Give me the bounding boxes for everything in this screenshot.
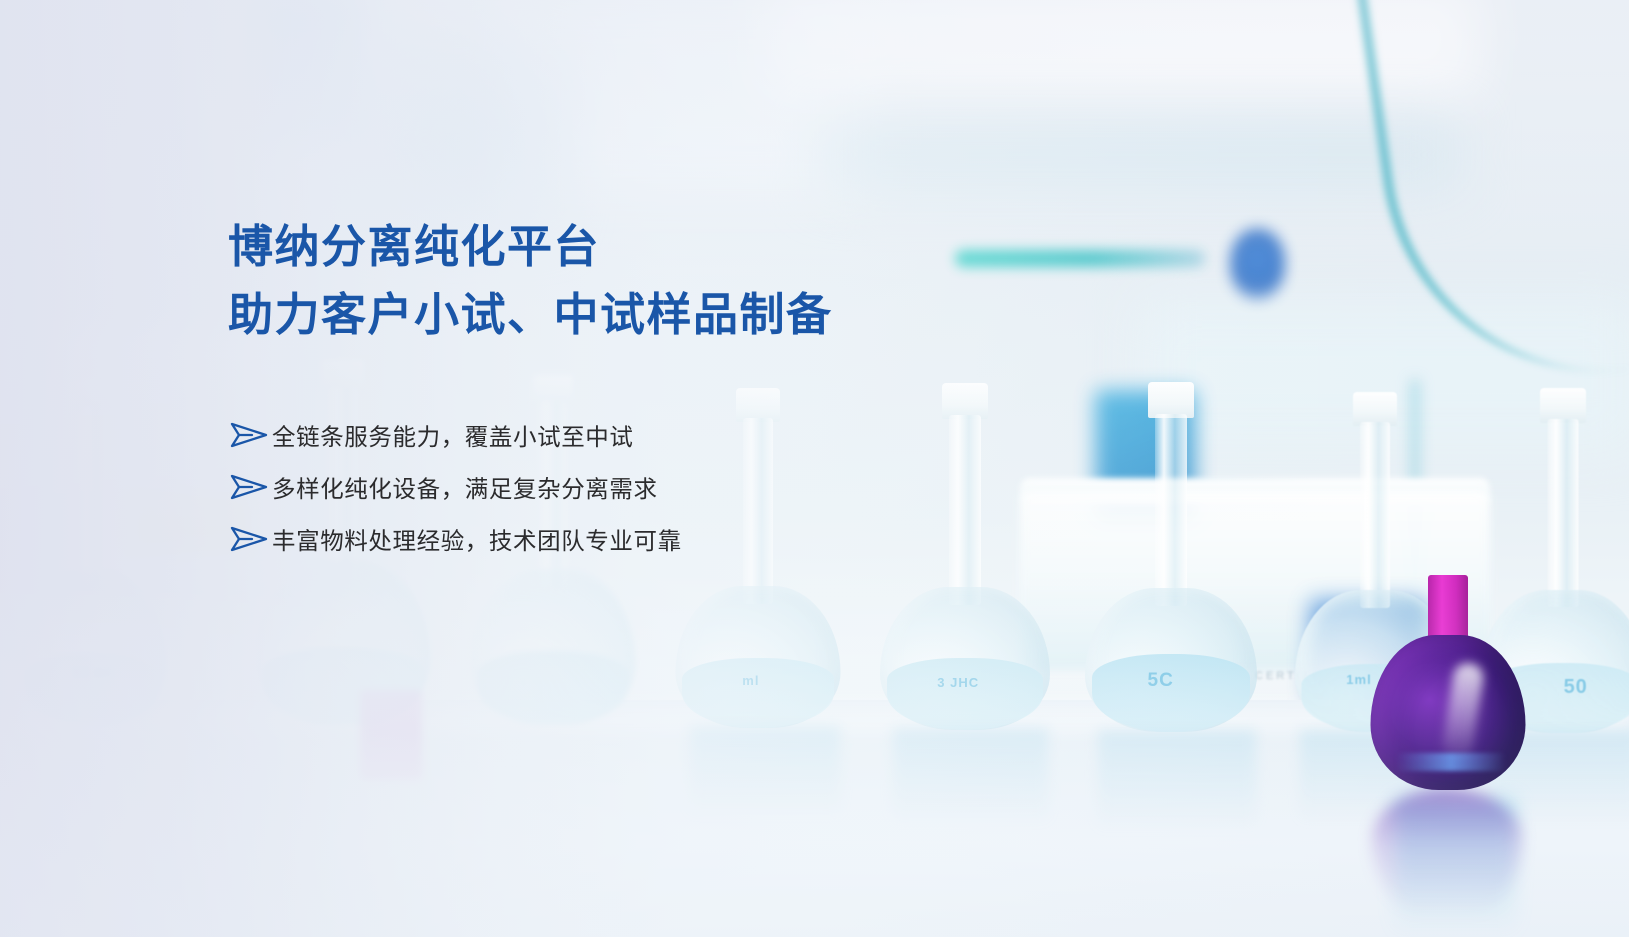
send-arrow-icon	[226, 472, 272, 502]
feature-list: 全链条服务能力，覆盖小试至中试 多样化纯化设备，满足复杂分离需求	[226, 409, 682, 565]
list-item: 全链条服务能力，覆盖小试至中试	[226, 409, 682, 461]
list-item-label: 多样化纯化设备，满足复杂分离需求	[272, 470, 658, 504]
list-item: 丰富物料处理经验，技术团队专业可靠	[226, 513, 682, 565]
headline-line-2: 助力客户小试、中试样品制备	[228, 281, 833, 349]
list-item: 多样化纯化设备，满足复杂分离需求	[226, 461, 682, 513]
hero-banner: CERTIFIED 50 ml	[0, 0, 1629, 937]
send-arrow-icon	[226, 420, 272, 450]
headline-block: 博纳分离纯化平台 助力客户小试、中试样品制备	[228, 213, 833, 349]
list-item-label: 全链条服务能力，覆盖小试至中试	[272, 418, 634, 452]
list-item-label: 丰富物料处理经验，技术团队专业可靠	[272, 522, 682, 556]
banner-content: 博纳分离纯化平台 助力客户小试、中试样品制备 全链条服务能力，覆盖小试至中试	[0, 0, 1629, 937]
headline-line-1: 博纳分离纯化平台	[228, 213, 833, 281]
send-arrow-icon	[226, 524, 272, 554]
